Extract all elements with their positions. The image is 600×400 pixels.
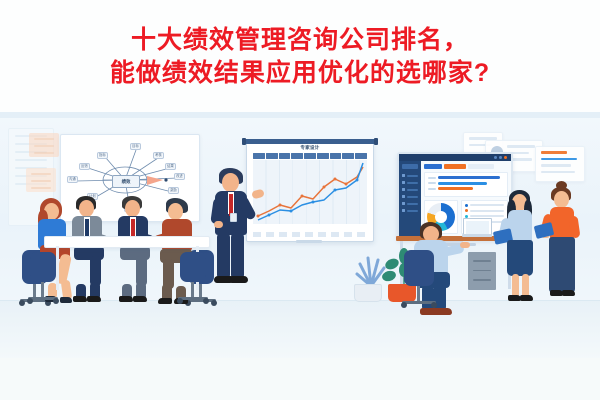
- laptop-keyboard: [462, 234, 492, 237]
- meeting-table: [44, 236, 210, 248]
- analytics-dashboard-monitor: [397, 152, 513, 240]
- mind-map-node: 目标: [130, 143, 141, 150]
- list-card: [535, 146, 585, 182]
- plant-green-pot: [388, 284, 416, 302]
- table-footer-row: [253, 232, 367, 237]
- tab-1[interactable]: [424, 164, 442, 169]
- sidebar-item[interactable]: [402, 195, 418, 198]
- dashboard-tabs[interactable]: [424, 164, 508, 169]
- sidebar-item[interactable]: [402, 174, 418, 177]
- screen-top-rail: [243, 139, 377, 144]
- page-title: 十大绩效管理咨询公司排名， 能做绩效结果应用优化的选哪家?: [0, 24, 600, 90]
- monitor-titlebar: [399, 154, 511, 161]
- progress-row: [428, 182, 504, 185]
- mind-map-node: 改进: [174, 173, 185, 180]
- sidebar-item[interactable]: [402, 209, 418, 212]
- mind-map-node: 结果: [165, 163, 176, 170]
- mind-map-center: 绩效: [112, 175, 140, 188]
- screen-title: 专家设计: [247, 145, 373, 151]
- trend-lines: [253, 160, 367, 224]
- dashboard-sidebar[interactable]: [399, 161, 421, 238]
- floor: [0, 300, 600, 360]
- trend-chart-screen: 专家设计: [246, 142, 374, 242]
- sticky-note-2: [26, 168, 56, 192]
- laptop: [462, 218, 492, 237]
- drawer-unit: [468, 252, 496, 290]
- poster-root: 十大绩效管理咨询公司排名， 能做绩效结果应用优化的选哪家? 绩效: [0, 0, 600, 400]
- tab-3[interactable]: [468, 164, 494, 169]
- headline-line-1: 十大绩效管理咨询公司排名，: [0, 24, 600, 57]
- legend-row: [465, 204, 504, 207]
- app-logo: [402, 164, 418, 169]
- bottom-margin: [0, 358, 600, 400]
- mind-map-node: 指标: [97, 152, 108, 159]
- progress-card: [424, 172, 508, 197]
- table-leg: [56, 246, 59, 290]
- progress-row: [428, 176, 504, 179]
- mind-map-node: 考核: [153, 152, 164, 159]
- mind-map-node: 反馈: [79, 163, 90, 170]
- sidebar-item[interactable]: [402, 188, 418, 191]
- sticky-note-1: [29, 133, 59, 157]
- table-header-row: [253, 153, 367, 159]
- tab-2[interactable]: [444, 164, 466, 169]
- mind-map-node: 激励: [168, 187, 179, 194]
- legend-row: [465, 209, 504, 212]
- mind-map-node: 沟通: [67, 176, 78, 183]
- screen-stand: [296, 240, 322, 243]
- window-controls[interactable]: [494, 156, 507, 159]
- progress-row: [428, 187, 504, 190]
- sidebar-item[interactable]: [402, 181, 418, 184]
- sidebar-item[interactable]: [402, 202, 418, 205]
- data-table: [253, 153, 367, 225]
- headline-line-2: 能做绩效结果应用优化的选哪家?: [0, 57, 600, 90]
